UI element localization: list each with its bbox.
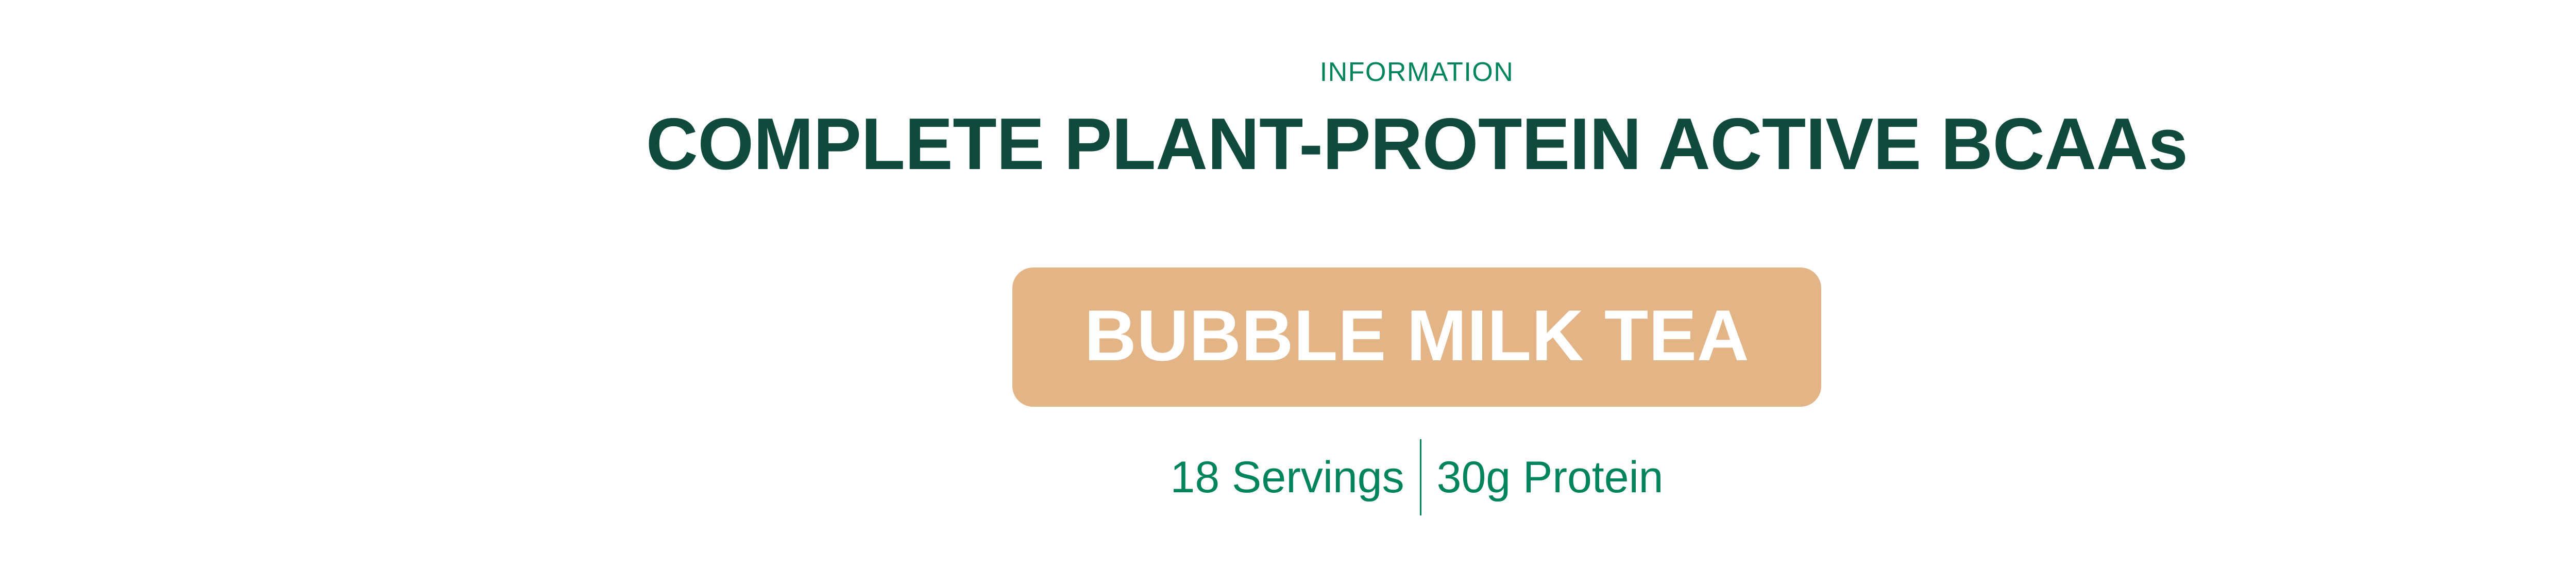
stat-divider: [1420, 439, 1421, 515]
stat-protein: 30g Protein: [1437, 439, 1664, 516]
flavour-badge-label: BUBBLE MILK TEA: [1084, 299, 1750, 375]
page-title: COMPLETE PLANT-PROTEIN ACTIVE BCAAs: [646, 106, 2188, 182]
product-stats-row: 18 Servings 30g Protein: [1170, 439, 1663, 516]
section-eyebrow-label: INFORMATION: [1320, 58, 1514, 87]
stat-servings: 18 Servings: [1170, 439, 1404, 516]
flavour-badge: BUBBLE MILK TEA: [1012, 268, 1821, 407]
product-information-banner: INFORMATION COMPLETE PLANT-PROTEIN ACTIV…: [0, 0, 2576, 584]
